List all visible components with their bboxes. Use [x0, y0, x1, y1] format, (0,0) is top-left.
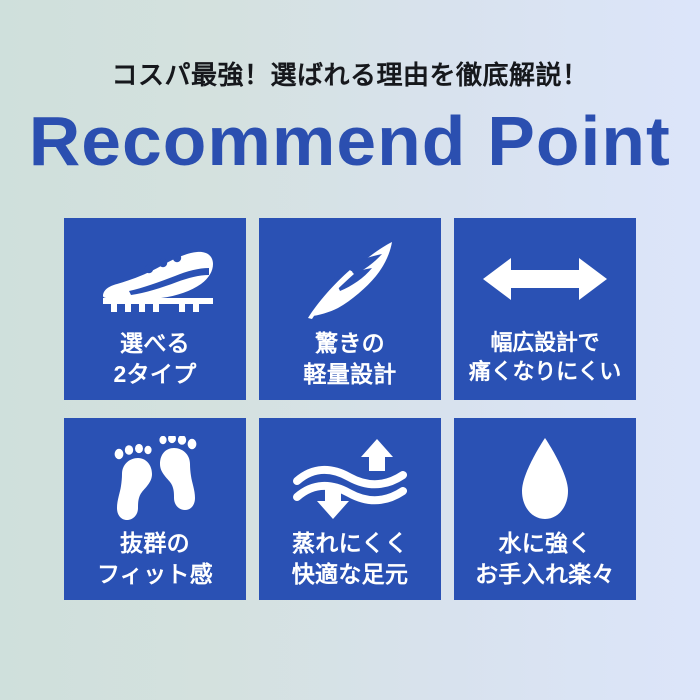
water-droplet-icon	[470, 436, 620, 522]
feature-tile-line2: 痛くなりにくい	[469, 357, 621, 386]
feature-tile-line2: 快適な足元	[292, 559, 409, 590]
double-arrow-horizontal-icon	[470, 236, 620, 322]
soccer-cleat-shoe-icon	[80, 236, 230, 322]
feature-tile-line2: 軽量設計	[303, 359, 396, 390]
footprints-icon	[80, 436, 230, 522]
feature-tile-line2: お手入れ楽々	[475, 559, 615, 590]
feature-tile-line1: 抜群の	[97, 528, 213, 559]
feature-tile-label: 驚きの 軽量設計	[303, 328, 396, 389]
feature-tile-label: 選べる 2タイプ	[114, 328, 197, 389]
feature-tile-line1: 驚きの	[303, 328, 396, 359]
feather-icon	[275, 236, 425, 322]
feature-tile-breathable[interactable]: 蒸れにくく 快適な足元	[259, 418, 441, 600]
feature-tile-label: 水に強く お手入れ楽々	[475, 528, 615, 589]
feature-tile-line2: 2タイプ	[114, 359, 197, 390]
feature-tile-line1: 選べる	[114, 328, 197, 359]
recommend-point-poster: コスパ最強！選ばれる理由を徹底解説！ Recommend Point	[0, 0, 700, 700]
feature-tile-label: 抜群の フィット感	[97, 528, 213, 589]
feature-tile-selectable-types[interactable]: 選べる 2タイプ	[64, 218, 246, 400]
feature-tile-label: 蒸れにくく 快適な足元	[292, 528, 409, 589]
feature-tile-lightweight[interactable]: 驚きの 軽量設計	[259, 218, 441, 400]
feature-tile-water-resistant[interactable]: 水に強く お手入れ楽々	[454, 418, 636, 600]
page-title: Recommend Point	[29, 106, 671, 176]
feature-tile-line1: 蒸れにくく	[292, 528, 409, 559]
feature-tile-label: 幅広設計で 痛くなりにくい	[469, 328, 621, 387]
feature-tile-line1: 幅広設計で	[469, 328, 621, 357]
feature-tile-line2: フィット感	[97, 559, 213, 590]
poster-subtitle: コスパ最強！選ばれる理由を徹底解説！	[111, 62, 588, 88]
breathability-airflow-icon	[275, 436, 425, 522]
feature-tile-line1: 水に強く	[475, 528, 615, 559]
feature-tile-wide-design[interactable]: 幅広設計で 痛くなりにくい	[454, 218, 636, 400]
feature-tile-fit[interactable]: 抜群の フィット感	[64, 418, 246, 600]
feature-tile-grid: 選べる 2タイプ 驚きの 軽量設計	[64, 218, 636, 600]
